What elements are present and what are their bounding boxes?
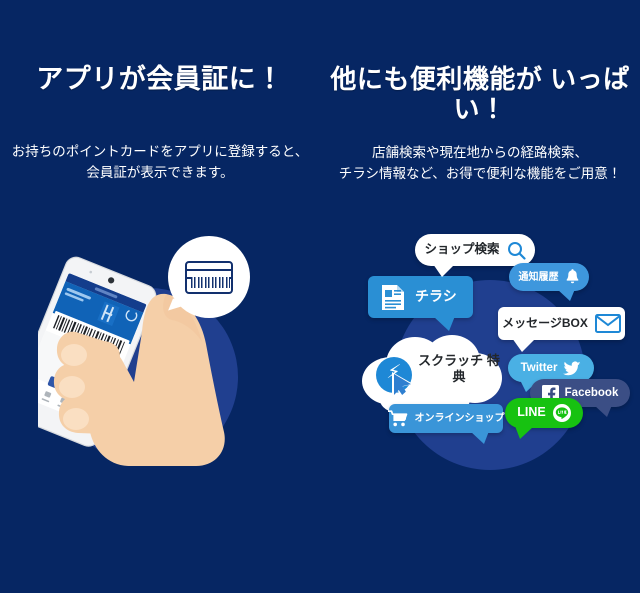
bubble-scratch-label: スクラッチ 特典 bbox=[418, 353, 500, 385]
left-body-line-1: お持ちのポイントカードをアプリに登録すると、 bbox=[0, 141, 320, 163]
hand-holding-phone-illustration: 200 bbox=[38, 236, 288, 466]
bubble-line-label: LINE bbox=[517, 406, 545, 420]
card-barcode-bars bbox=[191, 277, 230, 288]
right-headline-line-1: 他にも便利機能が bbox=[330, 64, 542, 94]
bubble-shop-search[interactable]: ショップ検索 bbox=[415, 234, 535, 266]
bubble-tail bbox=[433, 316, 455, 331]
envelope-icon bbox=[595, 314, 621, 333]
bubble-twitter[interactable]: Twitter bbox=[508, 354, 594, 382]
bubble-tail bbox=[433, 264, 455, 277]
bubble-chirashi-label: チラシ bbox=[415, 289, 457, 304]
phone-hand-svg: 200 bbox=[38, 236, 288, 466]
line-logo-icon bbox=[553, 404, 571, 422]
bubble-chirashi[interactable]: チラシ bbox=[368, 276, 473, 318]
bubble-message-box[interactable]: メッセージBOX bbox=[498, 307, 625, 340]
membership-card-barcode-icon bbox=[185, 261, 233, 294]
right-body-line-1: 店舗検索や現在地からの経路検索、 bbox=[320, 142, 640, 164]
right-headline: 他にも便利機能が いっぱい！ bbox=[320, 64, 640, 125]
bubble-tail bbox=[594, 405, 612, 417]
bubble-tail bbox=[512, 338, 536, 352]
search-icon bbox=[507, 241, 526, 260]
membership-card-bubble bbox=[168, 236, 250, 318]
bubble-tail bbox=[470, 431, 489, 444]
shopping-cart-icon bbox=[388, 410, 408, 427]
bubble-message-box-label: メッセージBOX bbox=[502, 317, 588, 330]
bubble-online-shop[interactable]: オンラインショップ bbox=[389, 404, 503, 433]
bubble-facebook-label: Facebook bbox=[565, 387, 619, 400]
bubble-shop-search-label: ショップ検索 bbox=[425, 243, 500, 257]
bubble-line[interactable]: LINE bbox=[505, 398, 583, 428]
bubble-tail bbox=[557, 289, 575, 301]
bell-icon bbox=[565, 269, 580, 285]
bubble-twitter-label: Twitter bbox=[521, 362, 558, 375]
bubble-scratch[interactable]: ⚡ スクラッチ 特典 bbox=[362, 335, 502, 407]
promo-banner: アプリが会員証に！ お持ちのポイントカードをアプリに登録すると、 会員証が表示で… bbox=[0, 0, 640, 593]
bubble-notice-history-label: 通知履歴 bbox=[519, 272, 559, 283]
left-panel: アプリが会員証に！ お持ちのポイントカードをアプリに登録すると、 会員証が表示で… bbox=[0, 0, 320, 593]
bubble-notice-history[interactable]: 通知履歴 bbox=[509, 263, 589, 291]
right-body-line-2: チラシ情報など、お得で便利な機能をご用意！ bbox=[320, 163, 640, 185]
scratch-card-icon: ⚡ bbox=[376, 357, 412, 393]
left-body-copy: お持ちのポイントカードをアプリに登録すると、 会員証が表示できます。 bbox=[0, 141, 320, 185]
right-body-copy: 店舗検索や現在地からの経路検索、 チラシ情報など、お得で便利な機能をご用意！ bbox=[320, 142, 640, 186]
flyer-document-icon bbox=[381, 284, 405, 311]
twitter-bird-icon bbox=[563, 361, 581, 376]
bubble-tail bbox=[515, 426, 534, 439]
bubble-online-shop-label: オンラインショップ bbox=[415, 413, 505, 424]
left-body-line-2: 会員証が表示できます。 bbox=[0, 162, 320, 184]
bubble-scratch-label-line-1: スクラッチ bbox=[418, 353, 483, 368]
left-headline: アプリが会員証に！ bbox=[0, 64, 320, 96]
